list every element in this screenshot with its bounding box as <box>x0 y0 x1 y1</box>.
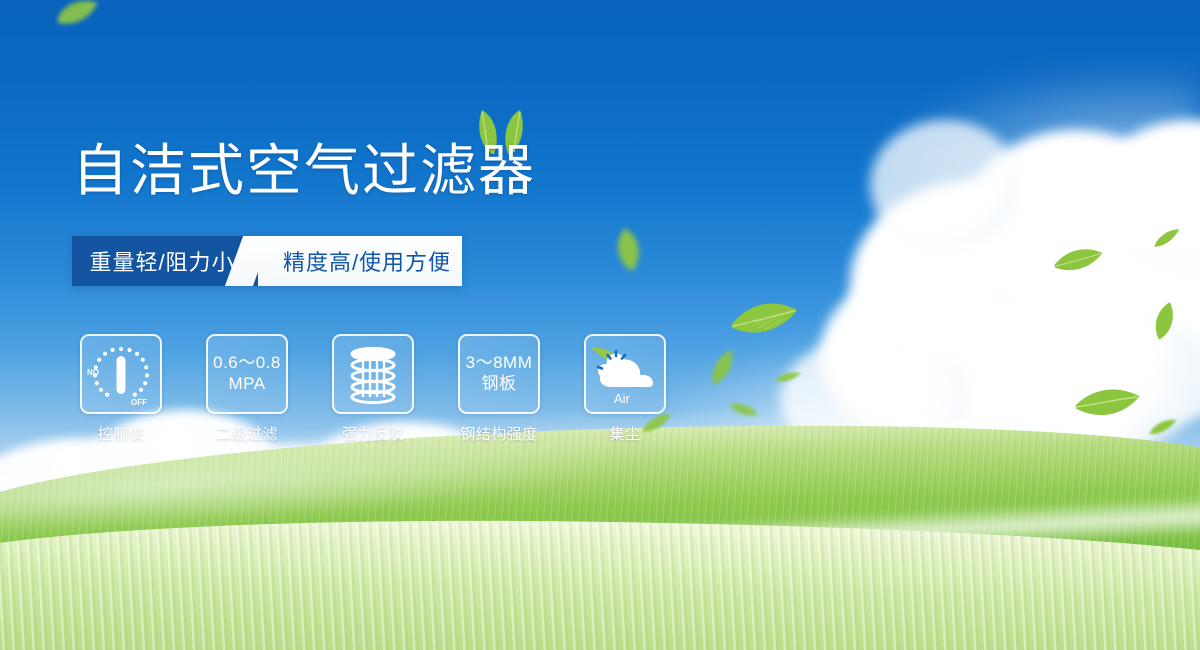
feature-label: 钢结构强度 <box>460 423 538 444</box>
tag-precision-convenience: 精度高/使用方便 <box>258 236 462 286</box>
feature-tag-bar: 重量轻/阻力小 精度高/使用方便 <box>72 236 462 286</box>
pressure-text-icon: 0.6～0.8 MPA <box>206 334 288 414</box>
feature-label: 集尘 <box>609 423 640 444</box>
floating-leaf-icon <box>724 279 801 356</box>
floating-leaf-icon <box>1150 225 1184 252</box>
pressure-value: 0.6～0.8 <box>213 353 281 372</box>
feature-label: 强力反吹 <box>342 423 404 444</box>
air-label: Air <box>614 391 631 406</box>
feature-item-dust-collection[interactable]: Air 集尘 <box>576 334 674 444</box>
feature-label: 控制仪 <box>98 423 145 444</box>
page-title: 自洁式空气过滤器 <box>72 143 536 199</box>
grass-field <box>0 415 1200 650</box>
gauge-no-label: NO <box>87 368 99 377</box>
gauge-dial-icon: NO OFF <box>80 334 162 414</box>
plate-thickness: 3～8MM <box>466 353 533 372</box>
feature-icon-row: NO OFF 控制仪 0.6～0.8 MPA 二级过滤 <box>72 334 674 444</box>
floating-leaf-icon <box>1049 231 1107 289</box>
feature-label: 二级过滤 <box>216 423 278 444</box>
cloud-mass-right <box>810 120 1200 450</box>
feature-item-two-stage-filter[interactable]: 0.6～0.8 MPA 二级过滤 <box>198 334 296 444</box>
floating-leaf-icon <box>49 0 103 40</box>
pressure-unit: MPA <box>213 374 281 395</box>
floating-leaf-icon <box>774 366 802 387</box>
floating-leaf-icon <box>1147 297 1182 344</box>
feature-item-steel-strength[interactable]: 3～8MM 钢板 钢结构强度 <box>450 334 548 444</box>
feature-item-pulse-blowback[interactable]: 强力反吹 <box>324 334 422 444</box>
cloud-air-icon: Air <box>584 334 666 414</box>
floating-leaf-icon <box>605 221 652 278</box>
sky-haze-top-right <box>870 60 1200 240</box>
gauge-off-label: OFF <box>131 398 147 407</box>
plate-material: 钢板 <box>466 374 533 395</box>
feature-item-controller[interactable]: NO OFF 控制仪 <box>72 334 170 444</box>
plate-text-icon: 3～8MM 钢板 <box>458 334 540 414</box>
filter-cartridge-icon <box>332 334 414 414</box>
hero-banner: 自洁式空气过滤器 重量轻/阻力小 精度高/使用方便 <box>0 0 1200 650</box>
floating-leaf-icon <box>700 346 743 387</box>
